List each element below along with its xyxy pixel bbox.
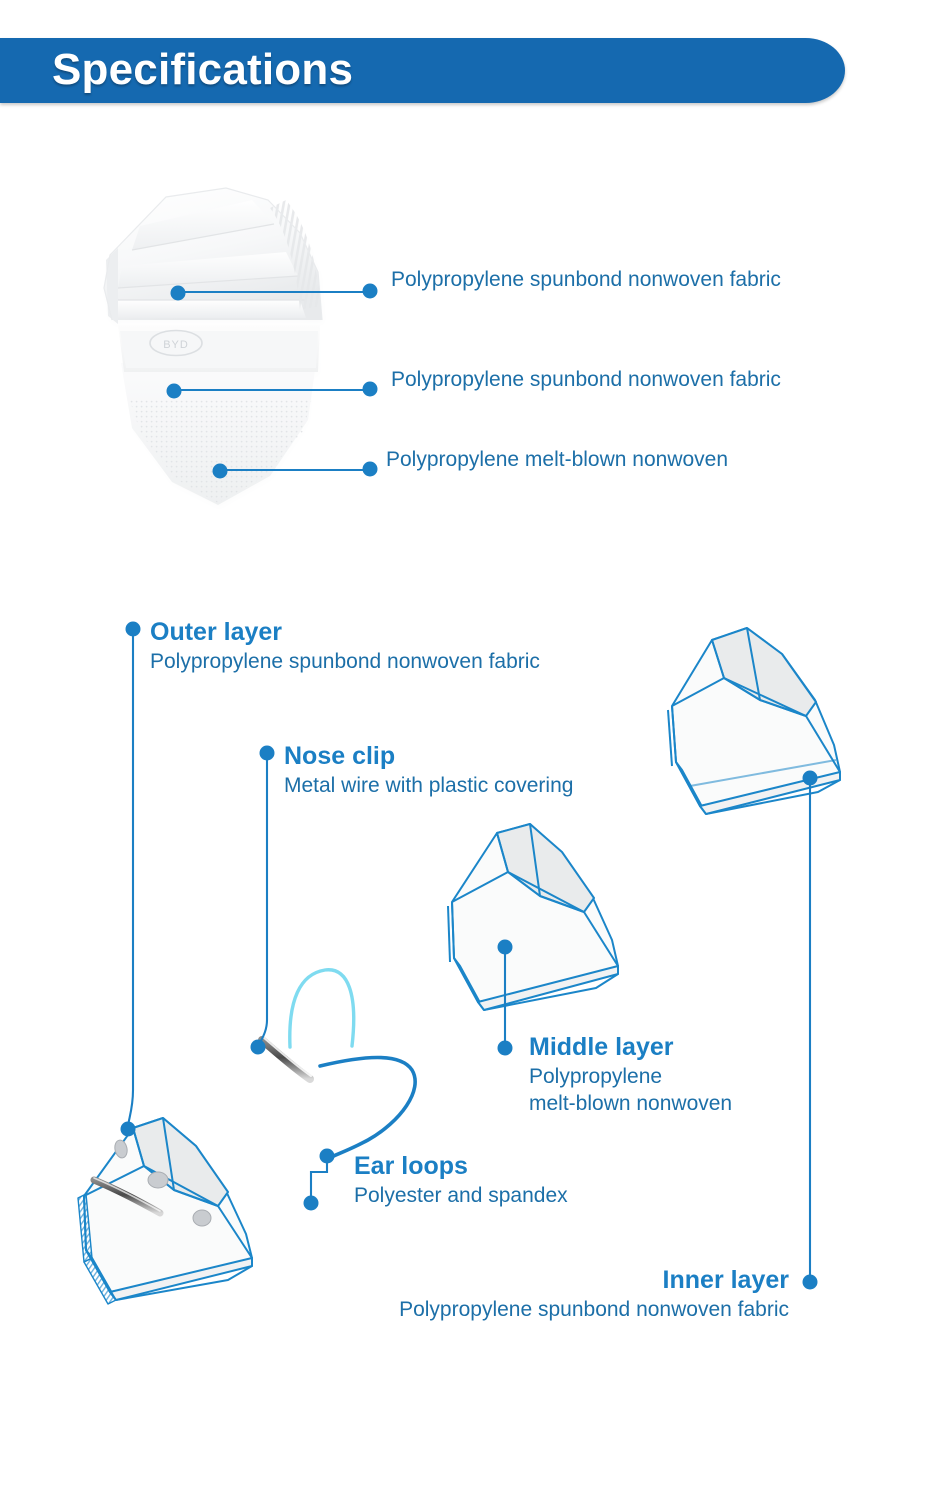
callout-ear-loops-heading: Ear loops <box>354 1152 568 1182</box>
callout-nose-clip-heading: Nose clip <box>284 742 573 772</box>
outer-layer-dot <box>126 622 141 637</box>
callout-inner-layer: Inner layer Polypropylene spunbond nonwo… <box>264 1266 789 1323</box>
callout-outer-layer-heading: Outer layer <box>150 618 540 648</box>
middle-layer-anchor-dot <box>498 940 513 955</box>
callout-middle-layer-heading: Middle layer <box>529 1033 732 1063</box>
inner-layer-anchor-dot <box>803 771 818 786</box>
nose-clip-anchor-dot <box>251 1040 266 1055</box>
callout-outer-layer-sub: Polypropylene spunbond nonwoven fabric <box>150 648 540 676</box>
ear-loop-drawing <box>290 970 415 1160</box>
ear-loops-dot <box>304 1196 319 1211</box>
outer-layer-anchor-dot <box>121 1122 136 1137</box>
callout-middle-layer-sub-line2: melt-blown nonwoven <box>529 1090 732 1118</box>
inner-layer-dot <box>803 1275 818 1290</box>
callout-ear-loops: Ear loops Polyester and spandex <box>354 1152 568 1209</box>
callout-middle-layer: Middle layer Polypropylene melt-blown no… <box>529 1033 732 1118</box>
mask-drawing-middle <box>448 824 618 1010</box>
callout-middle-layer-sub-line1: Polypropylene <box>529 1063 732 1091</box>
callout-nose-clip-sub: Metal wire with plastic covering <box>284 772 573 800</box>
mask-drawing-outer <box>78 1118 252 1304</box>
callout-inner-layer-sub: Polypropylene spunbond nonwoven fabric <box>264 1296 789 1324</box>
callout-ear-loops-sub: Polyester and spandex <box>354 1182 568 1210</box>
callout-outer-layer: Outer layer Polypropylene spunbond nonwo… <box>150 618 540 675</box>
nose-clip-drawing <box>262 1037 311 1079</box>
middle-layer-dot <box>498 1041 513 1056</box>
ear-loops-anchor-dot <box>320 1149 335 1164</box>
specifications-page: Specifications <box>0 0 940 1500</box>
mask-drawing-inner <box>668 628 840 814</box>
callout-nose-clip: Nose clip Metal wire with plastic coveri… <box>284 742 573 799</box>
callout-inner-layer-heading: Inner layer <box>264 1266 789 1296</box>
nose-clip-dot <box>260 746 275 761</box>
